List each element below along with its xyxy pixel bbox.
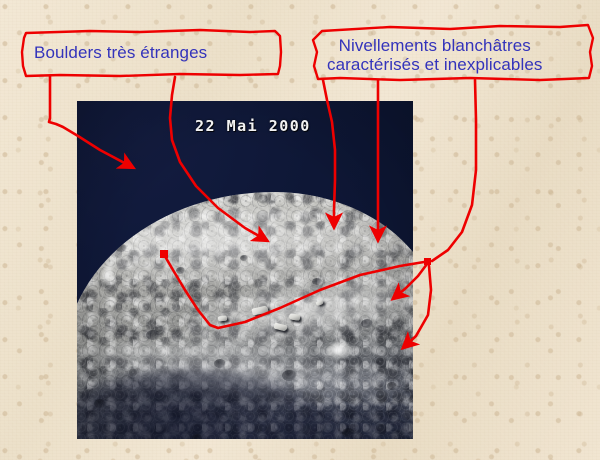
crater bbox=[361, 319, 373, 328]
crater bbox=[94, 399, 106, 408]
boulder bbox=[218, 315, 227, 321]
asteroid-surface-photo: 22 Mai 2000 bbox=[77, 101, 413, 439]
asteroid-body bbox=[77, 192, 413, 439]
annotation-label-nivellements: Nivellements blanchâtres caractérisés et… bbox=[327, 36, 543, 74]
annotation-label-boulders: Boulders très étranges bbox=[34, 43, 207, 62]
crater bbox=[192, 434, 203, 439]
crater bbox=[387, 382, 397, 390]
crater bbox=[214, 359, 226, 368]
slide-canvas: 22 Mai 2000 Boul bbox=[0, 0, 600, 460]
crater bbox=[342, 428, 355, 438]
photo-date-caption: 22 Mai 2000 bbox=[195, 117, 311, 135]
bright-white-patch-right bbox=[327, 342, 353, 359]
